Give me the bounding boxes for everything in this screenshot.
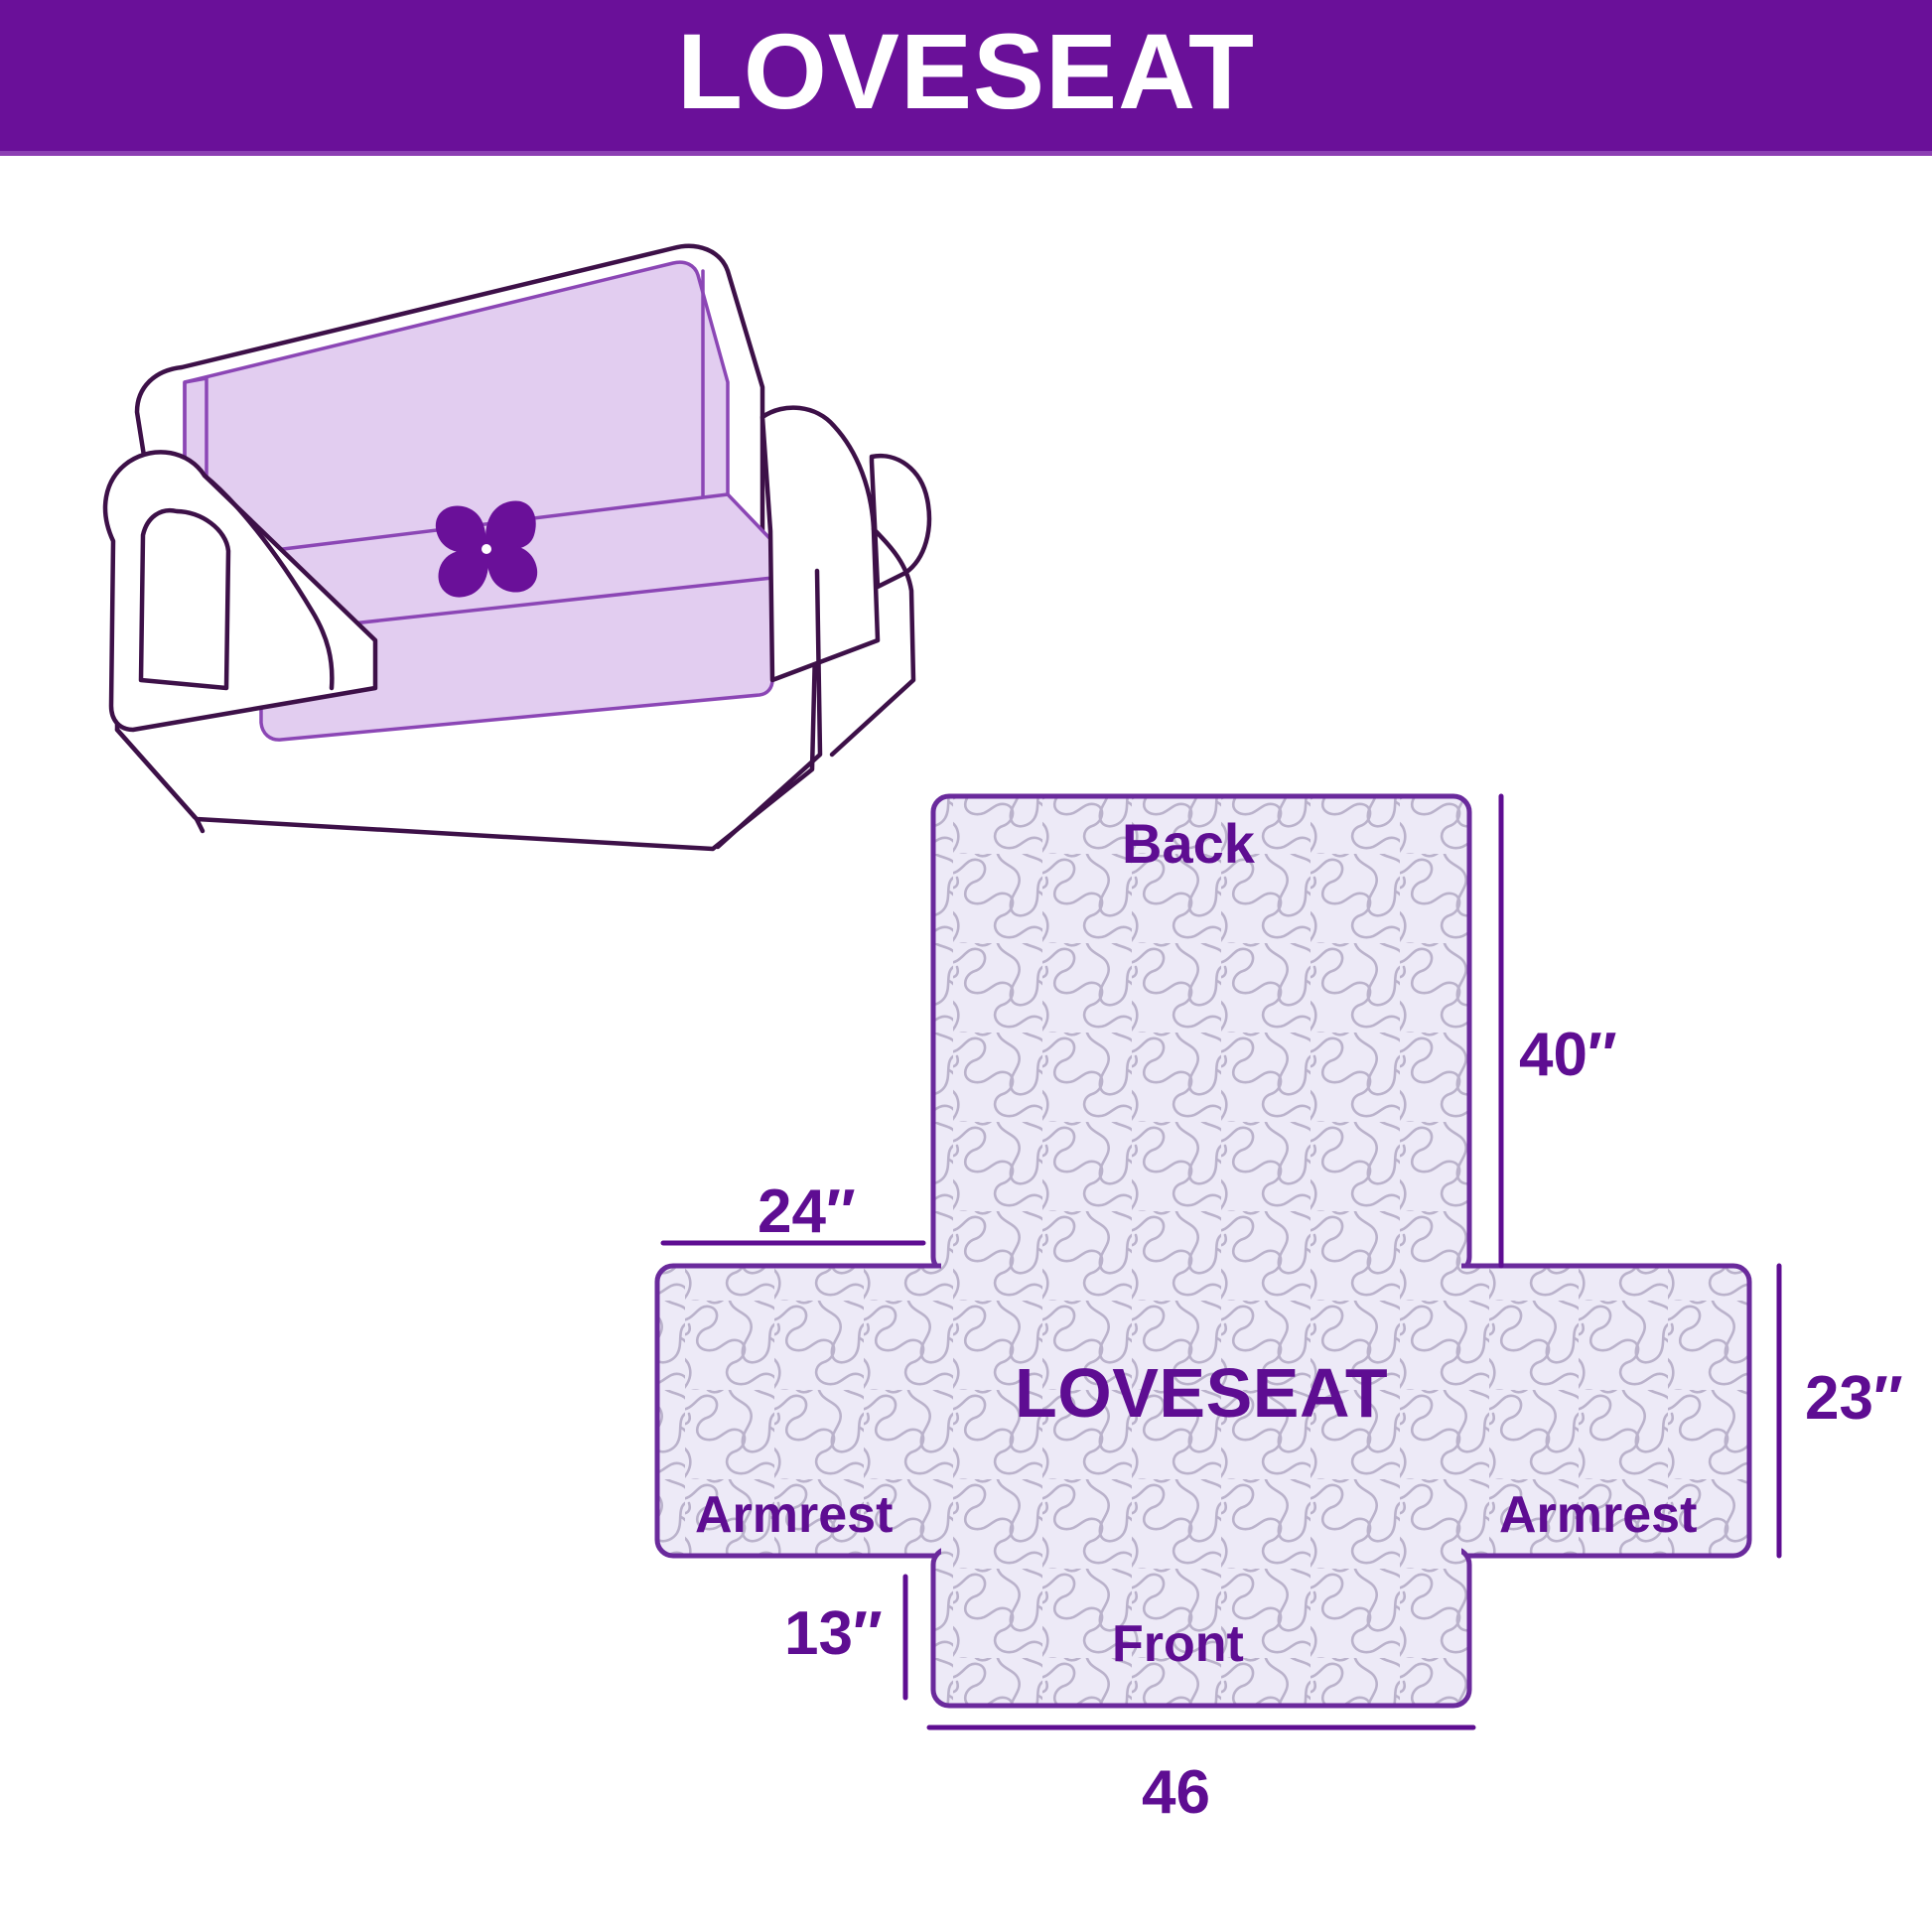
panel-label-armrest-left: Armrest xyxy=(695,1489,893,1541)
cross-pattern-shape xyxy=(657,796,1749,1706)
panel-label-armrest-right: Armrest xyxy=(1499,1489,1697,1541)
dimension-label-armrest-height: 23″ xyxy=(1805,1368,1903,1430)
page-title: LOVESEAT xyxy=(677,18,1255,125)
panel-label-center: LOVESEAT xyxy=(1015,1358,1388,1428)
panel-label-back: Back xyxy=(1122,816,1255,872)
dimension-label-front-width: 46 xyxy=(1142,1762,1210,1824)
dimension-label-back-offset: 24″ xyxy=(758,1181,856,1243)
header-banner: LOVESEAT xyxy=(0,0,1932,151)
dimension-label-back-height: 40″ xyxy=(1519,1025,1617,1086)
header-underline xyxy=(0,151,1932,156)
panel-label-front: Front xyxy=(1112,1618,1244,1670)
dimension-label-front-height: 13″ xyxy=(784,1603,883,1665)
